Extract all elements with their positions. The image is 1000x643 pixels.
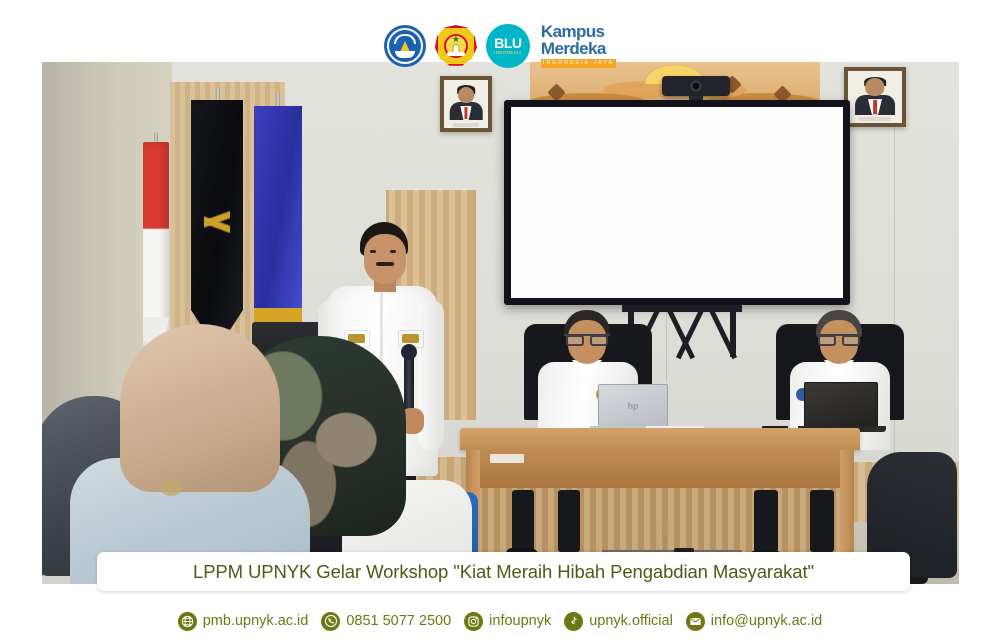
projector-screen-surface [511, 107, 843, 298]
presenter-eye-right [390, 250, 396, 253]
instagram-icon [464, 612, 483, 631]
tiktok-icon [564, 612, 583, 631]
power-cable [656, 462, 666, 554]
portrait-nameplate [859, 117, 891, 121]
presenter-face [364, 234, 406, 284]
camera-lens-icon [691, 81, 702, 92]
contact-email[interactable]: info@upnyk.ac.id [686, 612, 822, 631]
carving-tile-1 [547, 83, 565, 101]
kampus-merdeka-line2: Merdeka [541, 41, 616, 57]
panelist-right-leg-b [810, 490, 834, 552]
email-label: info@upnyk.ac.id [711, 613, 822, 629]
upn-band [447, 52, 465, 56]
contact-tiktok[interactable]: upnyk.official [564, 612, 673, 631]
microphone-head [401, 344, 417, 360]
laptop-dark-screen [804, 382, 878, 428]
presenter-eye-left [370, 250, 376, 253]
caption-bar: LPPM UPNYK Gelar Workshop "Kiat Meraih H… [97, 552, 910, 591]
glasses-lens-left [566, 335, 584, 346]
header-logo-strip: ★ BLU INDONESIA Kampus Merdeka INDONESIA… [0, 22, 1000, 70]
chair-column-left [566, 494, 576, 546]
fabric-mark [160, 480, 182, 496]
contact-website[interactable]: pmb.upnyk.ac.id [178, 612, 309, 631]
blu-logo-subtext: INDONESIA [494, 50, 521, 56]
caption-headline: LPPM UPNYK Gelar Workshop "Kiat Meraih H… [193, 561, 814, 583]
tut-wuri-handayani-logo [384, 25, 426, 67]
globe-icon [178, 612, 197, 631]
asset-tag-label [490, 454, 524, 463]
portrait-tie [873, 100, 877, 114]
whatsapp-label: 0851 5077 2500 [346, 613, 451, 629]
hp-logo: hp [628, 401, 639, 411]
presenter-mustache [376, 262, 394, 266]
kampus-merdeka-tagline: INDONESIA JAYA [541, 59, 616, 68]
glasses-lens-left [818, 335, 836, 346]
glasses-lens-right [590, 335, 608, 346]
blu-logo-text: BLU [494, 36, 521, 50]
glasses-lens-right [842, 335, 860, 346]
event-photo: hp [42, 62, 959, 584]
kampus-merdeka-line1: Kampus [541, 24, 616, 40]
indonesian-flag [143, 142, 169, 337]
blu-indonesia-logo: BLU INDONESIA [486, 24, 530, 68]
conference-table-top [460, 428, 860, 450]
video-conference-camera [662, 76, 730, 96]
audience-member-beige-hijab [120, 324, 280, 492]
panelist-left-leg-a [512, 490, 534, 552]
presenter-badge-right [402, 334, 419, 343]
news-card: ★ BLU INDONESIA Kampus Merdeka INDONESIA… [0, 0, 1000, 643]
footer-contact-strip: pmb.upnyk.ac.id 0851 5077 2500 infoupnyk [0, 604, 1000, 638]
website-label: pmb.upnyk.ac.id [203, 613, 309, 629]
portrait-nameplate [453, 123, 479, 127]
projector-screen [504, 100, 850, 305]
kampus-merdeka-logo: Kampus Merdeka INDONESIA JAYA [539, 24, 616, 68]
contact-whatsapp[interactable]: 0851 5077 2500 [321, 612, 451, 631]
upn-star-icon: ★ [452, 35, 460, 44]
laptop-silver-screen: hp [598, 384, 668, 428]
tiktok-label: upnyk.official [589, 613, 673, 629]
wall-portrait-right [844, 67, 906, 127]
black-flag-emblem [204, 182, 230, 262]
panelist-right-leg-a [754, 490, 778, 552]
panelist-glasses [816, 334, 862, 345]
email-icon [686, 612, 705, 631]
wall-portrait-left [440, 76, 492, 132]
portrait-head [865, 78, 884, 96]
whatsapp-icon [321, 612, 340, 631]
portrait-head [458, 87, 474, 103]
instagram-label: infoupnyk [489, 613, 551, 629]
contact-instagram[interactable]: infoupnyk [464, 612, 551, 631]
upn-veteran-yogyakarta-logo: ★ [435, 25, 477, 67]
portrait-tie [464, 107, 467, 119]
panelist-glasses [564, 334, 610, 345]
